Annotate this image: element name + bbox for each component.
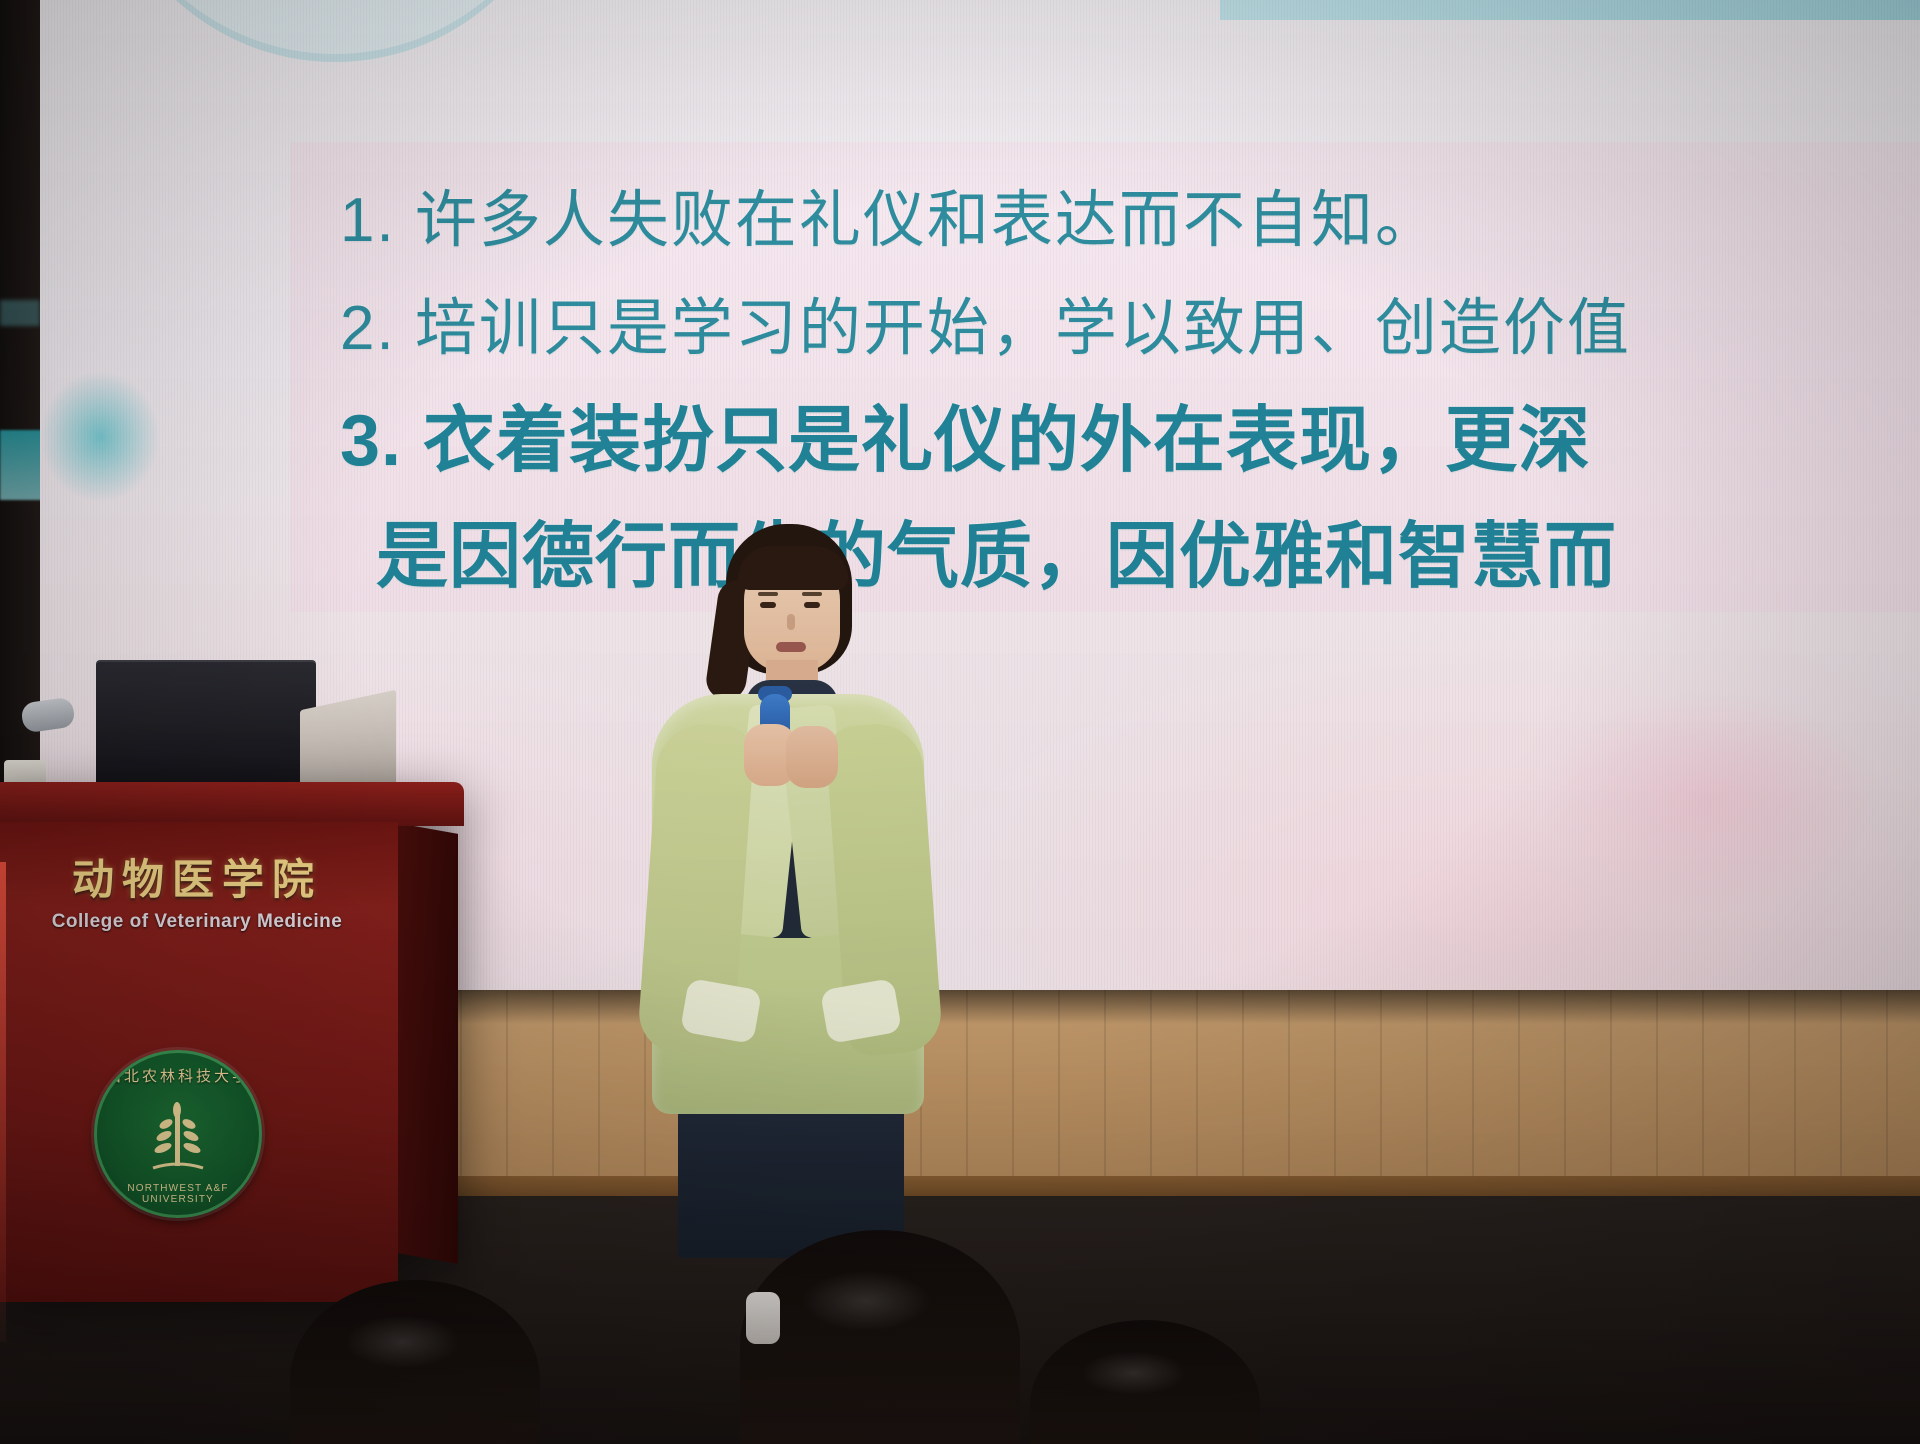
slide-line-4: 是因德行而生的气质，因优雅和智慧而 xyxy=(376,499,1920,615)
presenter-eyebrow-right xyxy=(802,592,822,596)
presenter-fringe xyxy=(738,546,848,590)
hair-highlight xyxy=(345,1316,460,1368)
university-logo-cn-text: 西北农林科技大学 xyxy=(97,1065,259,1086)
presenter-eye-right xyxy=(804,602,820,608)
presenter-mouth xyxy=(776,642,806,652)
university-logo: 西北农林科技大学 NORTHWEST A&F UNIVERSITY xyxy=(94,1050,262,1218)
slide-decor-pink-blob xyxy=(1540,692,1880,912)
podium-nameplate: 动物医学院 College of Veterinary Medicine xyxy=(32,846,362,936)
podium-side-panel xyxy=(392,822,458,1264)
podium-edge-highlight xyxy=(0,862,6,1342)
presenter-eye-left xyxy=(760,602,776,608)
audience-earphone xyxy=(746,1292,780,1344)
slide-text-block: 1. 许多人失败在礼仪和表达而不自知。 2. 培训只是学习的开始，学以致用、创造… xyxy=(340,167,1920,615)
slide-line-2: 2. 培训只是学习的开始，学以致用、创造价值 xyxy=(340,275,1920,383)
hair-highlight xyxy=(1081,1351,1187,1395)
hair-highlight xyxy=(802,1271,931,1331)
wheat-emblem-icon xyxy=(143,1094,213,1174)
podium-monitor xyxy=(96,660,316,788)
slide-line-3: 3. 衣着装扮只是礼仪的外在表现，更深 xyxy=(340,383,1920,499)
audience-head xyxy=(740,1230,1020,1444)
podium-top-surface xyxy=(0,782,464,826)
presenter-eyebrow-left xyxy=(758,592,778,596)
podium-nameplate-en: College of Veterinary Medicine xyxy=(32,911,362,933)
podium-front-panel: 动物医学院 College of Veterinary Medicine 西北农… xyxy=(0,822,398,1302)
slide-decor-teal-blob xyxy=(40,372,160,502)
photo-scene: 1. 许多人失败在礼仪和表达而不自知。 2. 培训只是学习的开始，学以致用、创造… xyxy=(0,0,1920,1444)
presenter-hand-right xyxy=(786,726,838,788)
lectern-podium: 动物医学院 College of Veterinary Medicine 西北农… xyxy=(0,782,464,1302)
slide-line-1: 1. 许多人失败在礼仪和表达而不自知。 xyxy=(340,167,1920,275)
wall-accent-stripe-secondary xyxy=(0,300,40,326)
slide-decor-top-bar xyxy=(1220,0,1920,20)
university-logo-en-text: NORTHWEST A&F UNIVERSITY xyxy=(97,1183,259,1205)
presenter xyxy=(640,518,940,1218)
podium-nameplate-cn: 动物医学院 xyxy=(32,846,362,907)
presenter-nose xyxy=(787,614,795,630)
